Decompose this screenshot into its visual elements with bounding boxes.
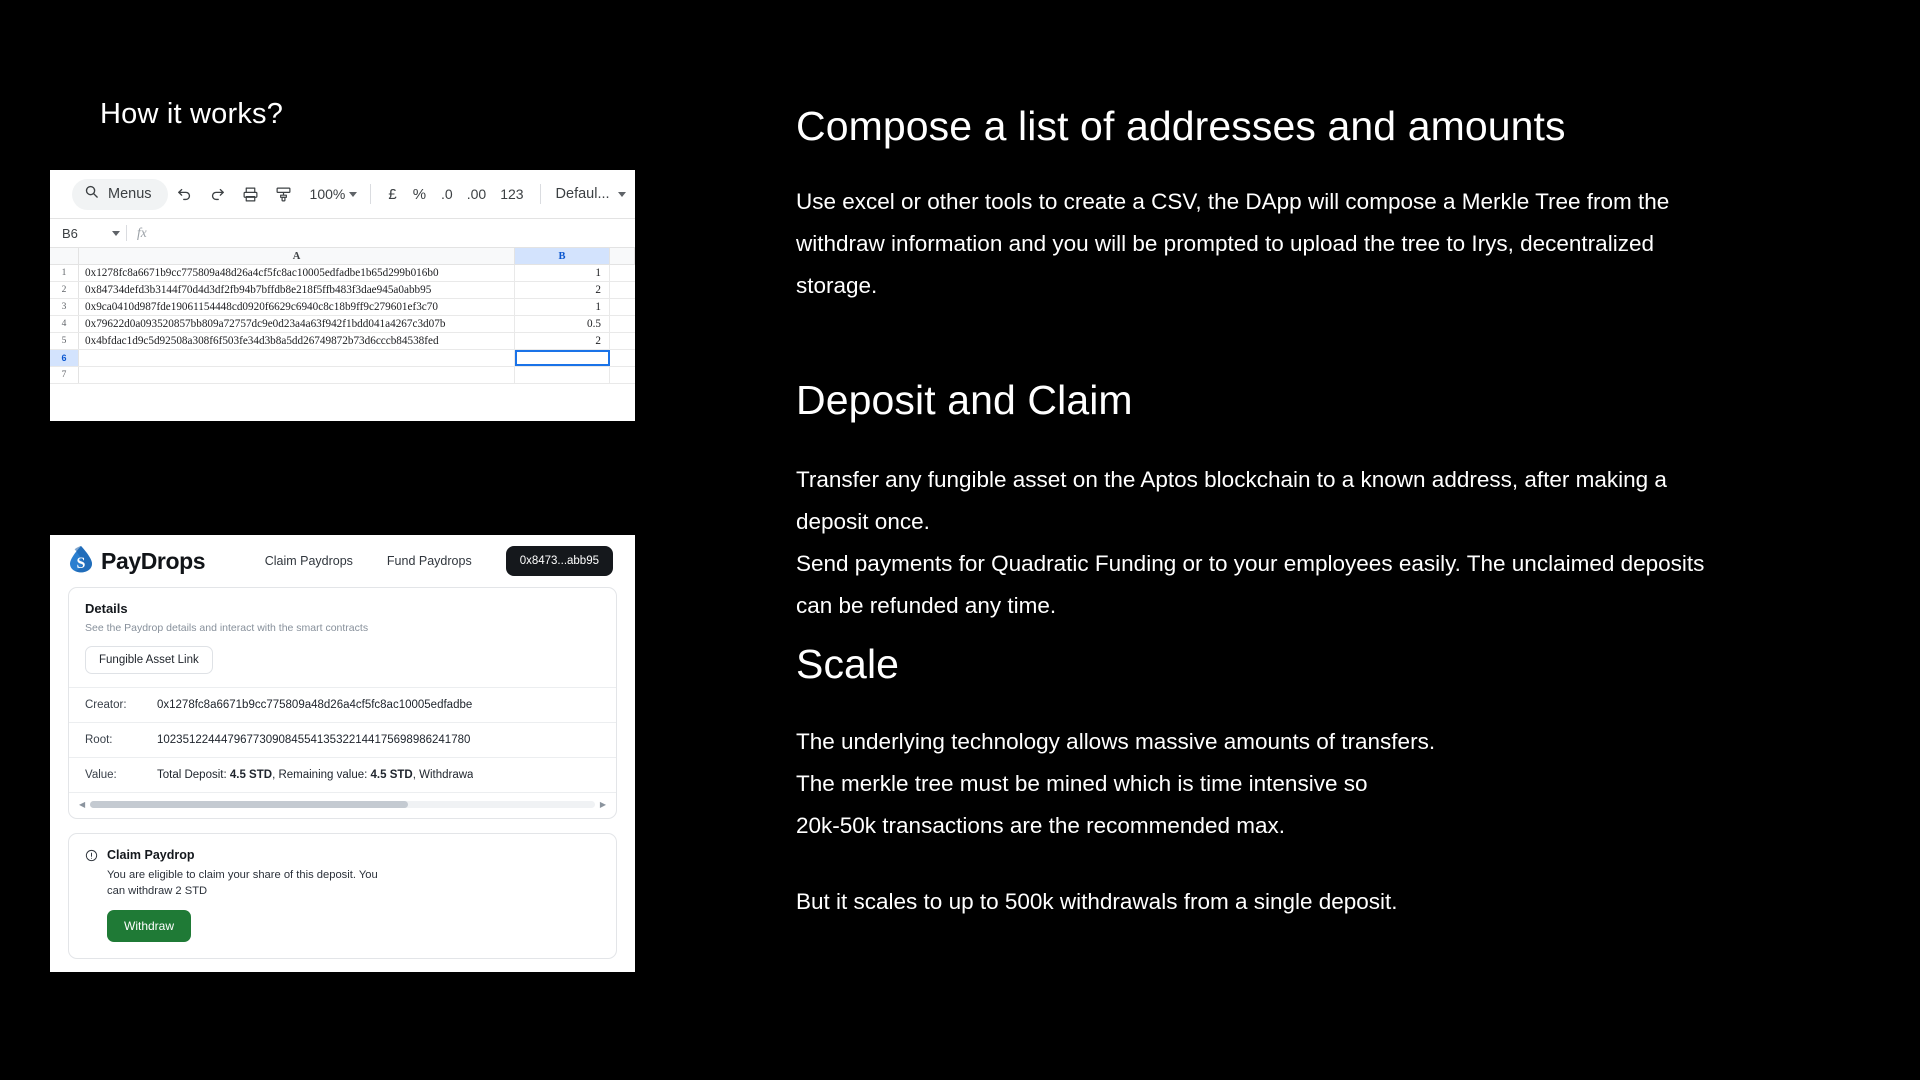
cell-a6[interactable]	[79, 350, 515, 366]
right-column: Compose a list of addresses and amounts …	[796, 0, 1856, 1080]
page-title: How it works?	[100, 98, 283, 131]
brand-logo[interactable]: S PayDrops	[68, 545, 205, 578]
cell-b4[interactable]: 0.5	[515, 316, 610, 332]
increase-decimal-button[interactable]: .00	[460, 186, 493, 202]
brand-name: PayDrops	[101, 548, 205, 575]
app-navbar: S PayDrops Claim Paydrops Fund Paydrops …	[50, 535, 635, 587]
column-header-a[interactable]: A	[79, 248, 515, 264]
creator-label: Creator:	[85, 699, 157, 711]
remaining-value-amount: 4.5 STD	[371, 769, 413, 781]
svg-text:S: S	[77, 555, 86, 572]
row-number[interactable]: 5	[50, 333, 79, 349]
cell-b1[interactable]: 1	[515, 265, 610, 281]
root-label: Root:	[85, 734, 157, 746]
details-row-root: Root: 1023512244479677309084554135322144…	[69, 722, 616, 757]
table-row[interactable]: 3 0x9ca0410d987fde19061154448cd0920f6629…	[50, 299, 635, 316]
table-row[interactable]: 1 0x1278fc8a6671b9cc775809a48d26a4cf5fc8…	[50, 265, 635, 282]
table-row[interactable]: 4 0x79622d0a093520857bb809a72757dc9e0d23…	[50, 316, 635, 333]
row-number[interactable]: 4	[50, 316, 79, 332]
section-body-compose: Use excel or other tools to create a CSV…	[796, 181, 1726, 307]
chevron-down-icon[interactable]	[112, 231, 120, 236]
cell-c3[interactable]	[610, 299, 635, 315]
spreadsheet-screenshot: Menus	[50, 170, 635, 421]
cell-c5[interactable]	[610, 333, 635, 349]
section-heading-scale: Scale	[796, 642, 1435, 687]
spreadsheet-toolbar: Menus	[50, 170, 635, 218]
cell-b5[interactable]: 2	[515, 333, 610, 349]
menus-label: Menus	[108, 186, 152, 202]
cell-c6[interactable]	[610, 350, 635, 366]
section-body-scale: The underlying technology allows massive…	[796, 721, 1435, 847]
details-card-header: Details See the Paydrop details and inte…	[69, 588, 616, 687]
section-heading-compose: Compose a list of addresses and amounts	[796, 104, 1726, 149]
table-row[interactable]: 5 0x4bfdac1d9c5d92508a308f6f503fe34d3b8a…	[50, 333, 635, 350]
section-body-deposit: Transfer any fungible asset on the Aptos…	[796, 459, 1726, 627]
print-icon[interactable]	[234, 179, 267, 210]
cell-a4[interactable]: 0x79622d0a093520857bb809a72757dc9e0d23a4…	[79, 316, 515, 332]
decrease-decimal-button[interactable]: .0	[434, 186, 460, 202]
root-value: 1023512244479677309084554135322144175698…	[157, 734, 470, 746]
claim-title: Claim Paydrop	[107, 848, 397, 862]
info-circle-icon	[85, 849, 98, 942]
cell-a2[interactable]: 0x84734defd3b3144f70d4d3df2fb94b7bffdb8e…	[79, 282, 515, 298]
toolbar-divider	[370, 184, 371, 204]
nav-fund-paydrops[interactable]: Fund Paydrops	[387, 554, 472, 568]
cell-reference-box[interactable]: B6	[50, 226, 112, 241]
claim-alert: Claim Paydrop You are eligible to claim …	[69, 834, 616, 958]
scrollbar-track[interactable]	[90, 801, 595, 808]
fx-icon: fx	[137, 225, 147, 241]
cell-b6-selected[interactable]	[515, 350, 610, 366]
cell-b2[interactable]: 2	[515, 282, 610, 298]
paydrops-app-screenshot: S PayDrops Claim Paydrops Fund Paydrops …	[50, 535, 635, 972]
claim-paydrop-card: Claim Paydrop You are eligible to claim …	[68, 833, 617, 959]
value-label: Value:	[85, 769, 157, 781]
details-title: Details	[85, 601, 600, 616]
row-number[interactable]: 7	[50, 367, 79, 383]
value-detail: Total Deposit: 4.5 STD, Remaining value:…	[157, 769, 473, 781]
creator-value: 0x1278fc8a6671b9cc775809a48d26a4cf5fc8ac…	[157, 699, 472, 711]
section-body-scale-2: But it scales to up to 500k withdrawals …	[796, 881, 1435, 923]
formula-bar: B6 fx	[50, 218, 635, 248]
claim-alert-content: Claim Paydrop You are eligible to claim …	[107, 848, 397, 942]
table-row[interactable]: 2 0x84734defd3b3144f70d4d3df2fb94b7bffdb…	[50, 282, 635, 299]
font-name: Defaul...	[556, 186, 610, 202]
menus-search-button[interactable]: Menus	[72, 179, 168, 210]
value-prefix: Total Deposit:	[157, 769, 230, 781]
cell-c2[interactable]	[610, 282, 635, 298]
column-header-b[interactable]: B	[515, 248, 610, 264]
left-column: How it works? Menus	[0, 0, 790, 1080]
row-number[interactable]: 1	[50, 265, 79, 281]
cell-a3[interactable]: 0x9ca0410d987fde19061154448cd0920f6629c6…	[79, 299, 515, 315]
claim-message: You are eligible to claim your share of …	[107, 867, 397, 899]
section-compose: Compose a list of addresses and amounts …	[796, 104, 1726, 307]
row-number[interactable]: 2	[50, 282, 79, 298]
scrollbar-thumb[interactable]	[90, 801, 408, 808]
cell-a7[interactable]	[79, 367, 515, 383]
chevron-down-icon	[618, 192, 626, 197]
details-subtitle: See the Paydrop details and interact wit…	[85, 622, 600, 634]
wallet-address-button[interactable]: 0x8473...abb95	[506, 546, 613, 576]
search-icon	[84, 184, 99, 204]
formula-divider	[126, 225, 127, 241]
toolbar-divider-2	[540, 184, 541, 204]
section-heading-deposit: Deposit and Claim	[796, 378, 1726, 423]
horizontal-scrollbar[interactable]: ◀ ▶	[69, 792, 616, 818]
cell-c4[interactable]	[610, 316, 635, 332]
cell-b7[interactable]	[515, 367, 610, 383]
total-deposit-amount: 4.5 STD	[230, 769, 272, 781]
column-header-row: A B	[50, 248, 635, 265]
cell-c1[interactable]	[610, 265, 635, 281]
water-drop-dollar-icon: S	[68, 545, 94, 578]
withdraw-button[interactable]: Withdraw	[107, 910, 191, 942]
slide-root: How it works? Menus	[0, 0, 1920, 1080]
details-row-creator: Creator: 0x1278fc8a6671b9cc775809a48d26a…	[69, 687, 616, 722]
scroll-right-icon[interactable]: ▶	[600, 800, 606, 809]
column-header-c[interactable]	[610, 248, 635, 264]
select-all-corner[interactable]	[50, 248, 79, 264]
percent-format-button[interactable]: %	[405, 186, 434, 203]
fungible-asset-link-button[interactable]: Fungible Asset Link	[85, 646, 213, 674]
undo-icon[interactable]	[168, 179, 201, 210]
section-scale: Scale The underlying technology allows m…	[796, 642, 1435, 923]
font-selector[interactable]: Defaul...	[556, 186, 626, 202]
chevron-down-icon	[349, 192, 357, 197]
nav-claim-paydrops[interactable]: Claim Paydrops	[265, 554, 353, 568]
spreadsheet-grid[interactable]: A B 1 0x1278fc8a6671b9cc775809a48d26a4cf…	[50, 248, 635, 384]
section-deposit-claim: Deposit and Claim Transfer any fungible …	[796, 378, 1726, 627]
table-row[interactable]: 7	[50, 367, 635, 384]
cell-b3[interactable]: 1	[515, 299, 610, 315]
cell-c7[interactable]	[610, 367, 635, 383]
paint-format-icon[interactable]	[267, 179, 300, 210]
zoom-value: 100%	[310, 186, 346, 202]
app-body: Details See the Paydrop details and inte…	[50, 587, 635, 959]
cell-a5[interactable]: 0x4bfdac1d9c5d92508a308f6f503fe34d3b8a5d…	[79, 333, 515, 349]
zoom-selector[interactable]: 100%	[306, 186, 362, 202]
number-format-button[interactable]: 123	[493, 186, 530, 202]
value-suffix: , Withdrawa	[413, 769, 474, 781]
value-middle: , Remaining value:	[272, 769, 370, 781]
currency-format-button[interactable]: £	[380, 186, 404, 203]
table-row[interactable]: 6	[50, 350, 635, 367]
redo-icon[interactable]	[201, 179, 234, 210]
details-row-value: Value: Total Deposit: 4.5 STD, Remaining…	[69, 757, 616, 792]
row-number-selected[interactable]: 6	[50, 350, 79, 366]
cell-a1[interactable]: 0x1278fc8a6671b9cc775809a48d26a4cf5fc8ac…	[79, 265, 515, 281]
scroll-left-icon[interactable]: ◀	[79, 800, 85, 809]
details-card: Details See the Paydrop details and inte…	[68, 587, 617, 819]
row-number[interactable]: 3	[50, 299, 79, 315]
